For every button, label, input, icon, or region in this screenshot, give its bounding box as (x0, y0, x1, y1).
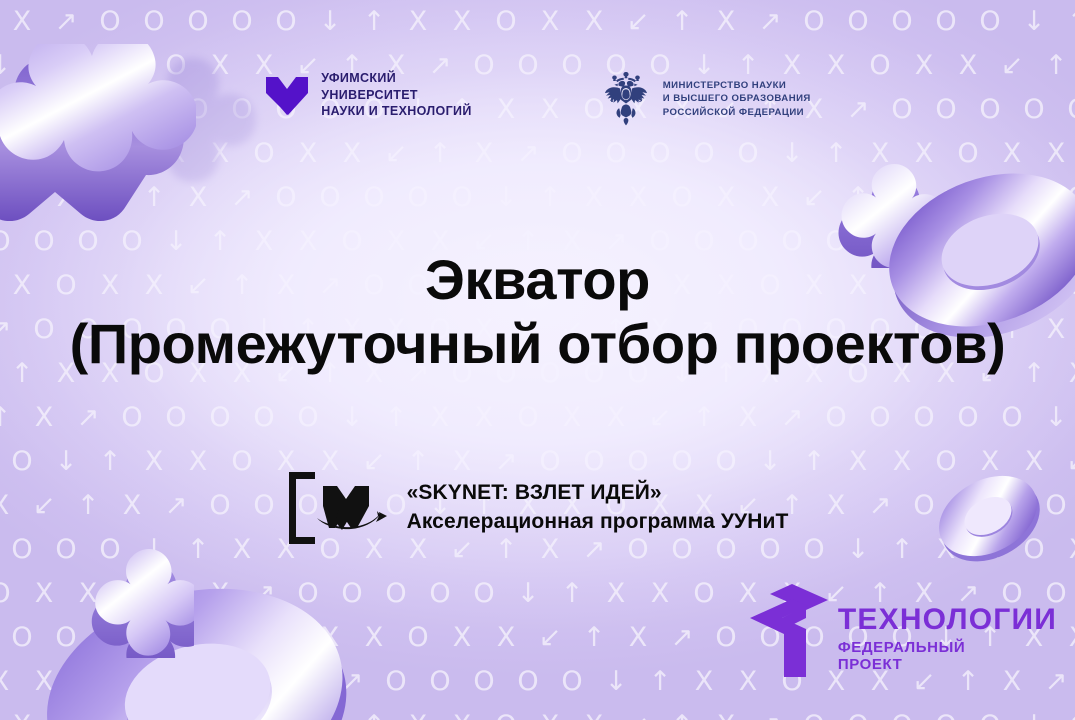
pattern-glyph: ↑ (660, 0, 704, 44)
pattern-glyph: O (814, 396, 858, 440)
pattern-glyph: ↑ (264, 616, 308, 660)
slide-title-line2: (Промежуточный отбор проектов) (18, 312, 1057, 376)
pattern-glyph: X (1034, 132, 1075, 176)
pattern-glyph: ↗ (924, 176, 968, 220)
pattern-glyph: ↙ (528, 616, 572, 660)
pattern-glyph: ↑ (418, 132, 462, 176)
federal-project-subtitle-line2: проект (838, 656, 1057, 673)
pattern-glyph: ↑ (682, 396, 726, 440)
pattern-glyph: ↗ (66, 396, 110, 440)
pattern-glyph: ↓ (1012, 0, 1056, 44)
pattern-glyph: X (880, 176, 924, 220)
pattern-glyph: ↓ (308, 704, 352, 720)
pattern-glyph: ↗ (220, 176, 264, 220)
pattern-glyph: O (22, 132, 66, 176)
pattern-glyph: ↑ (1056, 0, 1075, 44)
pattern-row: XX↙↑X↗OOOOO↓↑XXOXX↙↑X↗OOOOO (0, 176, 1075, 220)
pattern-row: X↗OOOOO↓↑XXOXX↙↑X↗OOOOO↓↑XX (0, 0, 1075, 44)
pattern-glyph: O (264, 0, 308, 44)
pattern-glyph: ↓ (220, 616, 264, 660)
pattern-glyph: ↗ (44, 704, 88, 720)
pattern-glyph: ↑ (110, 132, 154, 176)
skynet-bracket-swoosh-icon (287, 470, 391, 546)
pattern-glyph: X (176, 176, 220, 220)
pattern-glyph: X (990, 132, 1034, 176)
pattern-glyph: O (44, 616, 88, 660)
russian-double-headed-eagle-icon (600, 70, 652, 128)
ministry-logo: Министерство науки и высшего образования… (600, 70, 811, 128)
pattern-glyph: O (704, 616, 748, 660)
pattern-glyph: X (352, 616, 396, 660)
pattern-glyph: X (22, 396, 66, 440)
pattern-glyph: O (176, 616, 220, 660)
pattern-glyph: X (0, 660, 22, 704)
pattern-glyph: O (154, 396, 198, 440)
pattern-glyph: ↑ (528, 176, 572, 220)
pattern-glyph: O (1012, 176, 1056, 220)
pattern-glyph: ↓ (484, 176, 528, 220)
ministry-name-line2: и высшего образования (663, 92, 811, 105)
pattern-glyph: O (88, 0, 132, 44)
pattern-glyph: O (132, 616, 176, 660)
pattern-glyph: ↑ (132, 176, 176, 220)
pattern-glyph: O (308, 176, 352, 220)
pattern-glyph: O (176, 704, 220, 720)
ministry-logo-text: Министерство науки и высшего образования… (663, 79, 811, 118)
program-name: «SKYNET: ВЗЛЕТ ИДЕЙ» (407, 479, 789, 508)
pattern-glyph: X (638, 572, 682, 616)
pattern-glyph: X (616, 176, 660, 220)
pattern-glyph: X (0, 704, 44, 720)
slide-title-line1: Экватор (18, 248, 1057, 312)
pattern-glyph: ↗ (506, 132, 550, 176)
pattern-glyph: ↓ (1034, 396, 1075, 440)
pattern-glyph: X (154, 132, 198, 176)
pattern-glyph: O (550, 132, 594, 176)
pattern-glyph: O (484, 0, 528, 44)
pattern-glyph: X (528, 704, 572, 720)
pattern-glyph: O (836, 704, 880, 720)
pattern-glyph: ↓ (1012, 704, 1056, 720)
university-logo-text: Уфимский Университет Науки и технологий (321, 70, 472, 120)
pattern-row: OO↓↑XXOXX↙↑X↗OOOOO↓↑XXOXX↙↑ (0, 132, 1075, 176)
pattern-glyph: X (462, 132, 506, 176)
pattern-glyph: O (0, 572, 22, 616)
pattern-glyph: X (858, 132, 902, 176)
slide-title: Экватор (Промежуточный отбор проектов) (0, 248, 1075, 376)
university-logo: Уфимский Университет Науки и технологий (264, 70, 472, 120)
pattern-glyph: X (528, 0, 572, 44)
pattern-glyph: O (1056, 176, 1075, 220)
pattern-glyph: X (308, 616, 352, 660)
pattern-glyph: O (132, 0, 176, 44)
pattern-glyph: O (176, 0, 220, 44)
pattern-glyph: ↓ (770, 132, 814, 176)
pattern-glyph: O (374, 572, 418, 616)
pattern-glyph: O (902, 396, 946, 440)
ministry-name-line3: Российской Федерации (663, 106, 811, 119)
pattern-glyph: X (1056, 616, 1075, 660)
pattern-glyph: X (154, 660, 198, 704)
pattern-glyph: X (440, 704, 484, 720)
pattern-glyph: O (924, 0, 968, 44)
pattern-glyph: ↑ (374, 396, 418, 440)
pattern-glyph: O (880, 704, 924, 720)
slide-header: Уфимский Университет Науки и технологий (0, 70, 1075, 128)
pattern-glyph: X (44, 176, 88, 220)
pattern-glyph: X (704, 0, 748, 44)
pattern-glyph: O (726, 132, 770, 176)
pattern-glyph: O (132, 704, 176, 720)
pattern-glyph: X (594, 572, 638, 616)
pattern-glyph: O (88, 616, 132, 660)
pattern-glyph: X (66, 572, 110, 616)
pattern-glyph: O (506, 396, 550, 440)
pattern-glyph: ↓ (330, 396, 374, 440)
pattern-glyph: O (968, 0, 1012, 44)
pattern-glyph: X (682, 660, 726, 704)
pattern-glyph: O (264, 704, 308, 720)
pattern-glyph: ↑ (242, 660, 286, 704)
pattern-glyph: O (264, 176, 308, 220)
pattern-glyph: O (286, 396, 330, 440)
pattern-glyph: ↑ (836, 176, 880, 220)
pattern-glyph: X (440, 0, 484, 44)
pattern-glyph: ↗ (242, 572, 286, 616)
pattern-glyph: O (968, 176, 1012, 220)
pattern-glyph: O (968, 704, 1012, 720)
pattern-row: X↗OOOOO↓↑XXOXX↙↑X↗OOOOO↓↑XX (0, 704, 1075, 720)
pattern-glyph: O (242, 132, 286, 176)
federal-project-text: Технологии Федеральный проект (838, 587, 1057, 673)
pattern-glyph: O (792, 0, 836, 44)
program-lockup: «SKYNET: ВЗЛЕТ ИДЕЙ» Акселерационная про… (0, 470, 1075, 546)
pattern-glyph: X (704, 704, 748, 720)
pattern-glyph: O (506, 660, 550, 704)
pattern-glyph: ↑ (572, 616, 616, 660)
pattern-glyph: ↙ (616, 0, 660, 44)
pattern-glyph: X (748, 176, 792, 220)
pattern-glyph: O (198, 396, 242, 440)
uunit-v-mark-icon (264, 74, 310, 116)
pattern-glyph: O (440, 176, 484, 220)
pattern-glyph: O (880, 0, 924, 44)
pattern-glyph: O (638, 132, 682, 176)
federal-project-title: Технологии (838, 605, 1057, 635)
pattern-glyph: O (924, 704, 968, 720)
pattern-glyph: O (946, 132, 990, 176)
pattern-glyph: ↙ (110, 572, 154, 616)
pattern-glyph: ↙ (638, 396, 682, 440)
pattern-glyph: ↑ (352, 0, 396, 44)
federal-project-subtitle: Федеральный проект (838, 639, 1057, 673)
program-description: Акселерационная программа УУНиТ (407, 508, 789, 537)
pattern-glyph: O (990, 396, 1034, 440)
pattern-glyph: ↙ (792, 176, 836, 220)
pattern-glyph: ↓ (594, 660, 638, 704)
pattern-glyph: X (110, 660, 154, 704)
pattern-glyph: O (682, 132, 726, 176)
pattern-glyph: ↙ (88, 176, 132, 220)
pattern-glyph: ↑ (550, 572, 594, 616)
pattern-glyph: X (286, 660, 330, 704)
pattern-glyph: X (572, 0, 616, 44)
pattern-glyph: O (0, 132, 22, 176)
pattern-glyph: ↗ (44, 0, 88, 44)
pattern-glyph: X (572, 704, 616, 720)
pattern-glyph: O (462, 572, 506, 616)
pattern-glyph: O (220, 0, 264, 44)
pattern-glyph: O (682, 572, 726, 616)
pattern-glyph: O (946, 396, 990, 440)
pattern-glyph: ↙ (616, 704, 660, 720)
pattern-glyph: O (594, 132, 638, 176)
program-lockup-text: «SKYNET: ВЗЛЕТ ИДЕЙ» Акселерационная про… (407, 479, 789, 537)
pattern-row: ↑X↗OOOOO↓↑XXOXX↙↑X↗OOOOO↓↑X (0, 396, 1075, 440)
pattern-glyph: ↗ (330, 660, 374, 704)
university-name-line2: Университет (321, 87, 472, 104)
clover-bottom-3d-icon (72, 542, 194, 658)
pattern-glyph: X (286, 132, 330, 176)
pattern-glyph: O (88, 704, 132, 720)
pattern-glyph: O (286, 572, 330, 616)
pattern-glyph: X (418, 396, 462, 440)
pattern-glyph: O (418, 660, 462, 704)
pattern-glyph: X (594, 396, 638, 440)
pattern-glyph: X (22, 572, 66, 616)
pattern-glyph: O (418, 572, 462, 616)
pattern-glyph: X (396, 0, 440, 44)
pattern-glyph: ↓ (506, 572, 550, 616)
federal-project-subtitle-line1: Федеральный (838, 639, 1057, 656)
pattern-glyph: X (0, 0, 44, 44)
pattern-glyph: O (0, 616, 44, 660)
ministry-name-line1: Министерство науки (663, 79, 811, 92)
pattern-glyph: X (462, 396, 506, 440)
pattern-glyph: ↙ (198, 660, 242, 704)
torus-large-3d-icon (30, 572, 360, 720)
pattern-glyph: ↑ (660, 704, 704, 720)
pattern-glyph: X (396, 704, 440, 720)
pattern-glyph: X (330, 132, 374, 176)
pattern-glyph: ↓ (66, 132, 110, 176)
numeral-one-isometric-icon (748, 582, 832, 678)
pattern-glyph: ↗ (770, 396, 814, 440)
pattern-glyph: ↑ (814, 132, 858, 176)
university-name-line3: Науки и технологий (321, 103, 472, 120)
pattern-glyph: X (440, 616, 484, 660)
university-name-line1: Уфимский (321, 70, 472, 87)
pattern-glyph: O (110, 396, 154, 440)
pattern-glyph: ↗ (660, 616, 704, 660)
pattern-glyph: X (902, 132, 946, 176)
pattern-glyph: ↗ (748, 704, 792, 720)
federal-project-logo: Технологии Федеральный проект (748, 582, 1057, 678)
pattern-glyph: O (220, 704, 264, 720)
presentation-slide: X↗OOOOO↓↑XXOXX↙↑X↗OOOOO↓↑XX↓↑XXOXX↙↑X↗OO… (0, 0, 1075, 720)
pattern-glyph: ↙ (374, 132, 418, 176)
pattern-glyph: O (462, 660, 506, 704)
pattern-glyph: O (352, 176, 396, 220)
pattern-glyph: X (198, 572, 242, 616)
pattern-glyph: X (198, 132, 242, 176)
pattern-glyph: O (396, 616, 440, 660)
pattern-glyph: ↑ (638, 660, 682, 704)
pattern-glyph: X (22, 660, 66, 704)
pattern-glyph: O (858, 396, 902, 440)
pattern-glyph: X (572, 176, 616, 220)
pattern-glyph: O (374, 660, 418, 704)
pattern-glyph: ↗ (748, 0, 792, 44)
pattern-glyph: X (726, 396, 770, 440)
pattern-glyph: O (484, 704, 528, 720)
pattern-glyph: X (704, 176, 748, 220)
pattern-glyph: ↓ (308, 0, 352, 44)
pattern-glyph: O (66, 660, 110, 704)
pattern-glyph: X (550, 396, 594, 440)
pattern-glyph: ↑ (1056, 704, 1075, 720)
pattern-glyph: X (616, 616, 660, 660)
pattern-glyph: ↑ (154, 572, 198, 616)
pattern-glyph: X (484, 616, 528, 660)
pattern-glyph: O (550, 660, 594, 704)
pattern-glyph: X (0, 176, 44, 220)
pattern-glyph: ↑ (0, 396, 22, 440)
pattern-glyph: ↑ (352, 704, 396, 720)
pattern-glyph: O (330, 572, 374, 616)
pattern-glyph: O (242, 396, 286, 440)
pattern-glyph: O (660, 176, 704, 220)
pattern-glyph: O (792, 704, 836, 720)
pattern-glyph: O (396, 176, 440, 220)
pattern-glyph: O (836, 0, 880, 44)
